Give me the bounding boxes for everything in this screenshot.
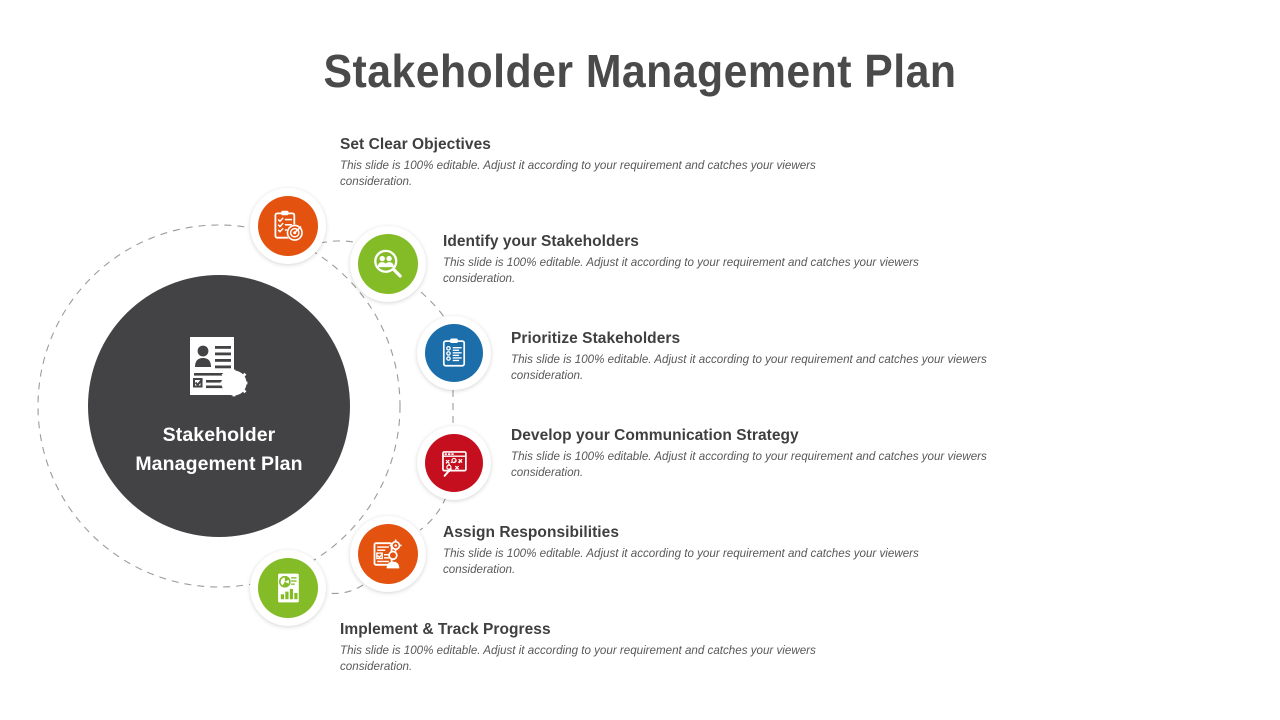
step-body: This slide is 100% editable. Adjust it a… — [340, 158, 825, 191]
step-body: This slide is 100% editable. Adjust it a… — [443, 546, 928, 579]
step-heading: Assign Responsibilities — [443, 524, 928, 542]
stakeholder-plan-diagram: Stakeholder Management Plan — [0, 0, 1280, 720]
step-text-implement-and-track-progress: Implement & Track Progress This slide is… — [340, 621, 825, 676]
hub-label-line1: Stakeholder — [163, 424, 276, 446]
clipboard-target-icon — [258, 196, 318, 256]
step-heading: Develop your Communication Strategy — [511, 427, 1001, 445]
step-node-identify-your-stakeholders[interactable] — [350, 226, 426, 302]
person-task-gear-icon — [358, 524, 418, 584]
step-body: This slide is 100% editable. Adjust it a… — [511, 352, 1001, 385]
step-node-implement-and-track-progress[interactable] — [250, 550, 326, 626]
step-text-set-clear-objectives: Set Clear Objectives This slide is 100% … — [340, 136, 825, 191]
step-node-develop-your-communication-strategy[interactable] — [417, 426, 491, 500]
central-hub[interactable]: Stakeholder Management Plan — [88, 275, 350, 537]
step-heading: Identify your Stakeholders — [443, 233, 928, 251]
step-node-assign-responsibilities[interactable] — [350, 516, 426, 592]
hub-label: Stakeholder Management Plan — [135, 421, 302, 480]
step-node-prioritize-stakeholders[interactable] — [417, 316, 491, 390]
checklist-clipboard-icon — [425, 324, 483, 382]
step-body: This slide is 100% editable. Adjust it a… — [443, 255, 928, 288]
step-heading: Implement & Track Progress — [340, 621, 825, 639]
step-text-identify-your-stakeholders: Identify your Stakeholders This slide is… — [443, 233, 928, 288]
step-node-set-clear-objectives[interactable] — [250, 188, 326, 264]
step-body: This slide is 100% editable. Adjust it a… — [340, 643, 825, 676]
connector-5-6 — [322, 585, 363, 593]
chart-report-icon — [258, 558, 318, 618]
step-heading: Set Clear Objectives — [340, 136, 825, 154]
people-magnifier-icon — [358, 234, 418, 294]
step-heading: Prioritize Stakeholders — [511, 330, 1001, 348]
step-text-assign-responsibilities: Assign Responsibilities This slide is 10… — [443, 524, 928, 579]
hub-label-line2: Management Plan — [135, 453, 302, 475]
profile-document-gear-icon — [182, 333, 256, 407]
step-text-prioritize-stakeholders: Prioritize Stakeholders This slide is 10… — [511, 330, 1001, 385]
step-text-develop-your-communication-strategy: Develop your Communication Strategy This… — [511, 427, 1001, 482]
strategy-board-icon — [425, 434, 483, 492]
step-body: This slide is 100% editable. Adjust it a… — [511, 449, 1001, 482]
